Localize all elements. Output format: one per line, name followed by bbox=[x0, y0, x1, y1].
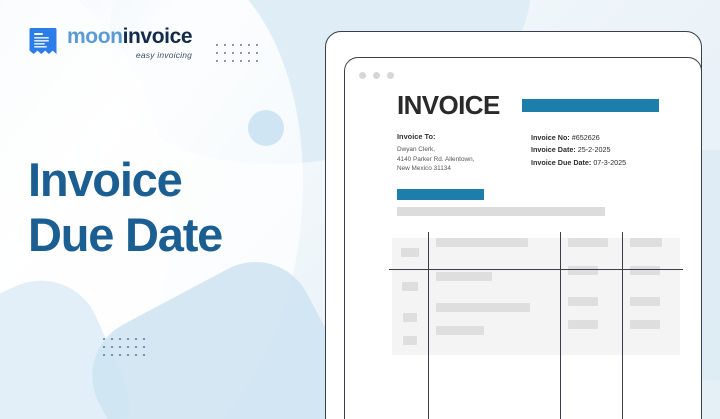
invoice-table-col-description bbox=[428, 238, 560, 355]
skeleton-cell bbox=[401, 248, 419, 257]
skeleton-cell bbox=[568, 238, 608, 247]
skeleton-cell bbox=[630, 320, 660, 329]
invoice-date-row: Invoice Date: 25-2-2025 bbox=[531, 144, 667, 156]
bill-to-label: Invoice To: bbox=[397, 132, 515, 141]
invoice-table-col-index bbox=[392, 238, 428, 355]
skeleton-cell bbox=[436, 326, 484, 335]
invoice-date-label: Invoice Date: bbox=[531, 145, 576, 154]
invoice-due-date-value: 07-3-2025 bbox=[593, 158, 626, 167]
invoice-section-accent-bar bbox=[397, 189, 484, 200]
dot-grid-top bbox=[216, 44, 258, 62]
skeleton-cell bbox=[436, 272, 492, 281]
bill-to-address-1: 4140 Parker Rd. Allentown, bbox=[397, 155, 515, 165]
invoice-table-col-amount bbox=[622, 238, 680, 355]
invoice-bill-to: Invoice To: Dwyan Clerk, 4140 Parker Rd.… bbox=[397, 132, 515, 174]
brand-name-moon: moon bbox=[67, 25, 123, 48]
invoice-date-value: 25-2-2025 bbox=[578, 145, 611, 154]
skeleton-cell bbox=[436, 303, 530, 312]
poster-canvas: mooninvoice easy invoicing Invoice Due D… bbox=[0, 0, 720, 419]
brand-wordmark: mooninvoice easy invoicing bbox=[67, 26, 192, 60]
invoice-table-col-quantity bbox=[560, 238, 622, 355]
invoice-placeholder-bar bbox=[397, 207, 605, 216]
skeleton-cell bbox=[630, 266, 660, 275]
headline-line-2: Due Date bbox=[28, 207, 222, 262]
invoice-number-row: Invoice No: #652626 bbox=[531, 132, 667, 144]
invoice-meta: Invoice To: Dwyan Clerk, 4140 Parker Rd.… bbox=[359, 118, 687, 174]
bill-to-name: Dwyan Clerk, bbox=[397, 145, 515, 155]
brand-tagline: easy invoicing bbox=[67, 51, 192, 60]
invoice-header: INVOICE bbox=[359, 92, 687, 118]
invoice-header-accent-bar bbox=[522, 99, 659, 112]
skeleton-cell bbox=[568, 266, 598, 275]
invoice-due-date-row: Invoice Due Date: 07-3-2025 bbox=[531, 157, 667, 169]
invoice-title: INVOICE bbox=[397, 92, 500, 118]
skeleton-cell bbox=[402, 282, 418, 291]
window-traffic-lights[interactable] bbox=[359, 72, 394, 79]
invoice-number-value: #652626 bbox=[572, 133, 600, 142]
brand-logo[interactable]: mooninvoice easy invoicing bbox=[28, 26, 192, 60]
skeleton-cell bbox=[403, 313, 417, 322]
skeleton-cell bbox=[568, 320, 598, 329]
invoice-table-header-divider bbox=[389, 269, 683, 270]
invoice-document-icon bbox=[28, 27, 58, 59]
invoice-due-date-label: Invoice Due Date: bbox=[531, 158, 591, 167]
skeleton-cell bbox=[630, 297, 660, 306]
headline-line-1: Invoice bbox=[28, 153, 182, 206]
invoice-number-label: Invoice No: bbox=[531, 133, 570, 142]
page-title: Invoice Due Date bbox=[28, 152, 222, 263]
background-circle bbox=[248, 110, 284, 146]
dot-grid-bottom bbox=[103, 338, 145, 356]
brand-name-invoice: invoice bbox=[123, 25, 193, 48]
mock-window-front: INVOICE Invoice To: Dwyan Clerk, 4140 Pa… bbox=[344, 57, 702, 419]
window-dot-minimize-icon[interactable] bbox=[373, 72, 380, 79]
skeleton-cell bbox=[568, 297, 598, 306]
skeleton-cell bbox=[403, 336, 417, 345]
window-dot-close-icon[interactable] bbox=[359, 72, 366, 79]
invoice-document: INVOICE Invoice To: Dwyan Clerk, 4140 Pa… bbox=[345, 92, 701, 355]
invoice-table bbox=[392, 238, 680, 355]
invoice-details: Invoice No: #652626 Invoice Date: 25-2-2… bbox=[531, 132, 667, 174]
skeleton-cell bbox=[630, 238, 662, 247]
bill-to-address-2: New Mexico 31134 bbox=[397, 164, 515, 174]
skeleton-cell bbox=[436, 238, 528, 247]
window-dot-maximize-icon[interactable] bbox=[387, 72, 394, 79]
